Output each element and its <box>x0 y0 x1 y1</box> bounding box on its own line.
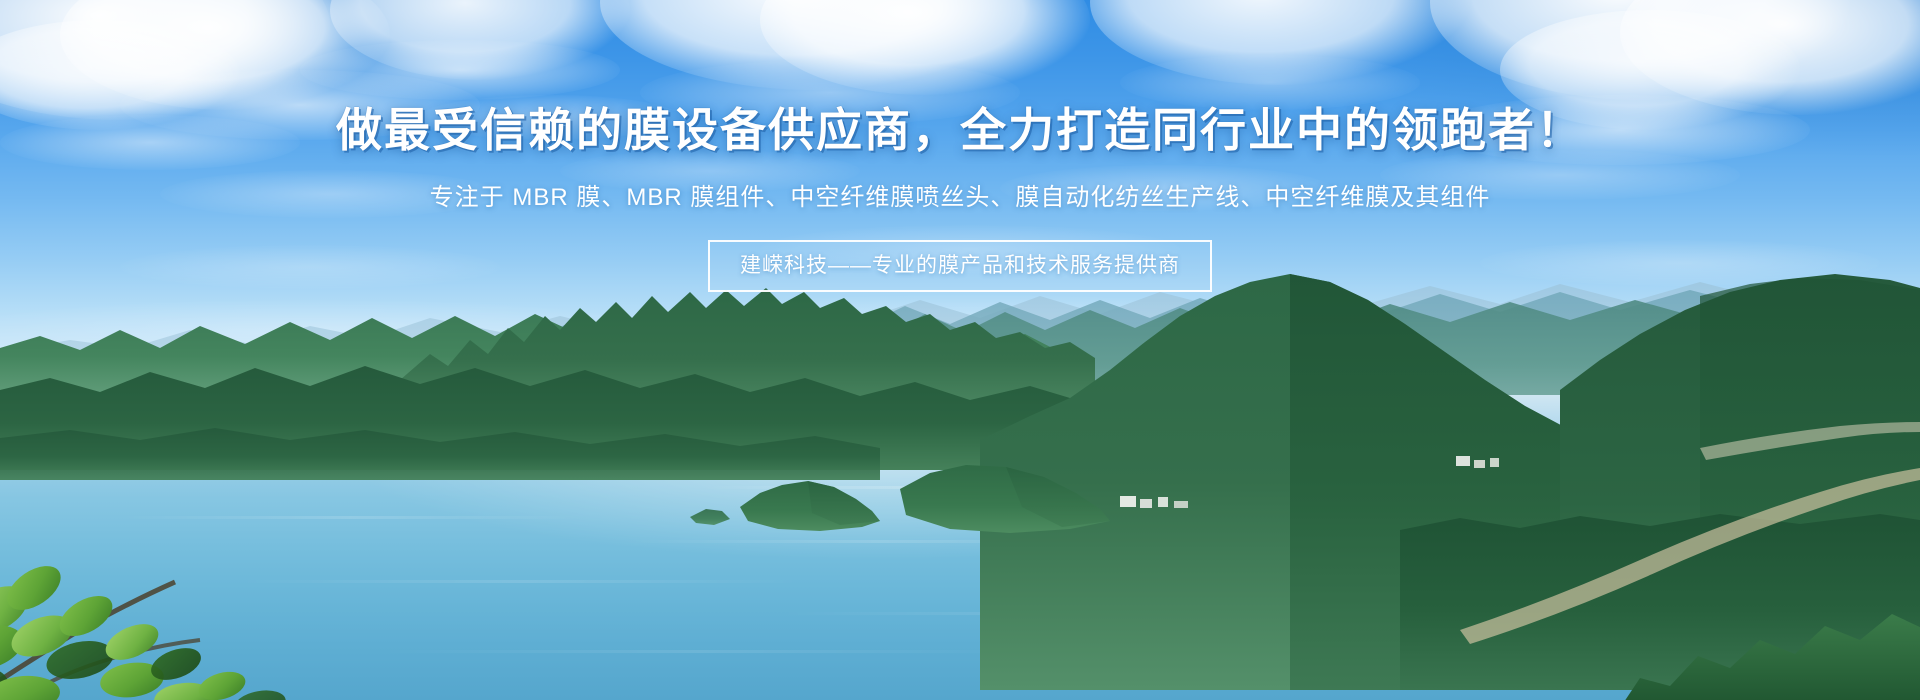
foreground-foliage-right <box>1620 528 1920 700</box>
banner-headline: 做最受信赖的膜设备供应商，全力打造同行业中的领跑者！ <box>0 0 1920 156</box>
banner-text-block: 做最受信赖的膜设备供应商，全力打造同行业中的领跑者！ 专注于 MBR 膜、MBR… <box>0 0 1920 292</box>
banner-subline: 专注于 MBR 膜、MBR 膜组件、中空纤维膜喷丝头、膜自动化纺丝生产线、中空纤… <box>0 156 1920 214</box>
banner-tagline-box: 建嵘科技——专业的膜产品和技术服务提供商 <box>708 240 1212 292</box>
foreground-foliage <box>0 410 380 700</box>
hero-banner: 做最受信赖的膜设备供应商，全力打造同行业中的领跑者！ 专注于 MBR 膜、MBR… <box>0 0 1920 700</box>
waterside-buildings <box>1100 470 1360 530</box>
